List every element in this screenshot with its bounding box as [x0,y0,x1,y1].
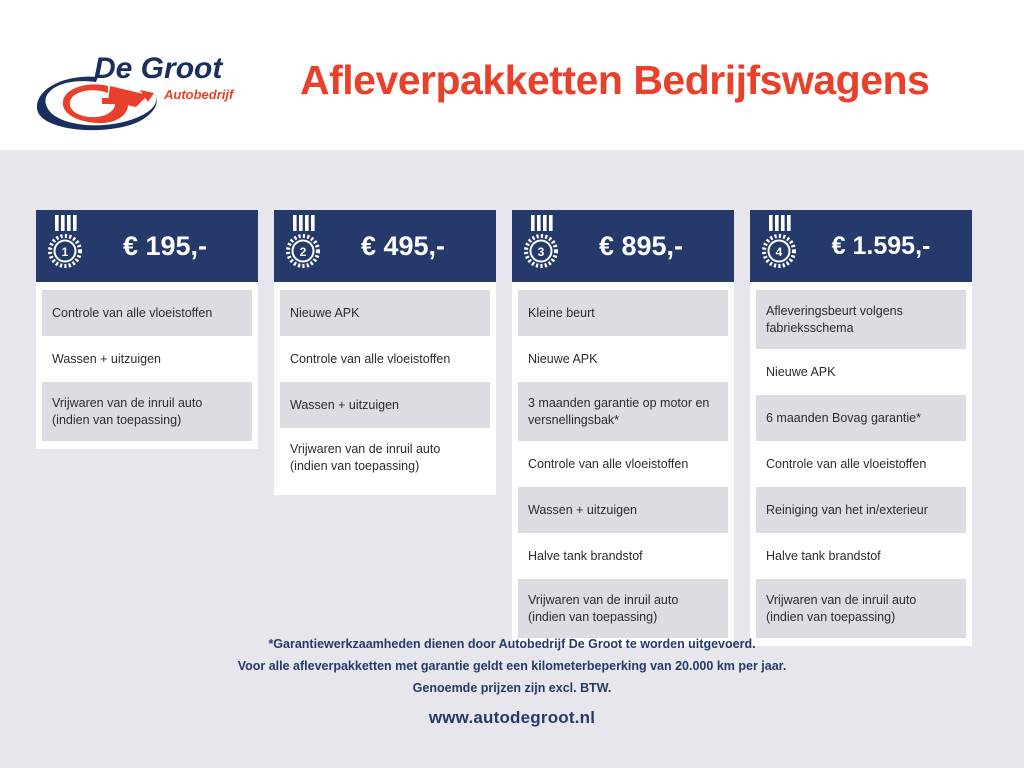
medal-number-4: 4 [776,245,783,259]
package-header-3: 3 € 895,- [512,210,734,282]
feature-item: Wassen + uitzuigen [518,487,728,533]
package-header-2: 2 € 495,- [274,210,496,282]
feature-item: Nieuwe APK [280,290,490,336]
feature-item: Nieuwe APK [756,349,966,395]
feature-list-3: Kleine beurt Nieuwe APK 3 maanden garant… [512,282,734,640]
feature-item: Halve tank brandstof [518,533,728,579]
feature-item: Wassen + uitzuigen [42,336,252,382]
medal-badge-1-icon: 1 [44,215,86,273]
package-card-3[interactable]: 3 € 895,- Kleine beurt Nieuwe APK 3 maan… [512,210,734,646]
feature-item: Reiniging van het in/exterieur [756,487,966,533]
feature-item: Nieuwe APK [518,336,728,382]
footnote-line-2: Voor alle afleverpakketten met garantie … [0,656,1024,678]
logo-brand-text: De Groot [94,52,224,85]
package-price-1: € 195,- [86,231,248,262]
package-cards-row: 1 € 195,- Controle van alle vloeistoffen… [36,210,988,646]
package-card-1[interactable]: 1 € 195,- Controle van alle vloeistoffen… [36,210,258,449]
footnote-line-1: *Garantiewerkzaamheden dienen door Autob… [0,634,1024,656]
feature-item: Halve tank brandstof [756,533,966,579]
feature-item: Controle van alle vloeistoffen [518,441,728,487]
package-card-4[interactable]: 4 € 1.595,- Afleveringsbeurt volgens fab… [750,210,972,646]
package-price-4: € 1.595,- [800,232,962,261]
feature-item: Controle van alle vloeistoffen [756,441,966,487]
feature-list-1: Controle van alle vloeistoffen Wassen + … [36,282,258,443]
medal-badge-2-icon: 2 [282,215,324,273]
feature-list-4: Afleveringsbeurt volgens fabrieksschema … [750,282,972,640]
feature-item: Kleine beurt [518,290,728,336]
feature-item: Vrijwaren van de inruil auto (indien van… [756,579,966,638]
de-groot-swoosh-logo-icon: De Groot Autobedrijf [36,46,251,134]
feature-item: Wassen + uitzuigen [280,382,490,428]
footnote-line-3: Genoemde prijzen zijn excl. BTW. [0,678,1024,700]
feature-item: Vrijwaren van de inruil auto (indien van… [518,579,728,638]
medal-badge-3-icon: 3 [520,215,562,273]
medal-number-3: 3 [538,245,545,259]
page-title: Afleverpakketten Bedrijfswagens [300,58,980,103]
footnote-block: *Garantiewerkzaamheden dienen door Autob… [0,634,1024,699]
feature-item: Vrijwaren van de inruil auto (indien van… [280,428,490,487]
medal-number-2: 2 [300,245,307,259]
feature-item: 6 maanden Bovag garantie* [756,395,966,441]
feature-item: Afleveringsbeurt volgens fabrieksschema [756,290,966,349]
logo-tagline-text: Autobedrijf [163,87,235,102]
feature-item: Vrijwaren van de inruil auto (indien van… [42,382,252,441]
feature-item: Controle van alle vloeistoffen [42,290,252,336]
package-header-1: 1 € 195,- [36,210,258,282]
website-link[interactable]: www.autodegroot.nl [0,708,1024,728]
feature-list-2: Nieuwe APK Controle van alle vloeistoffe… [274,282,496,489]
package-price-3: € 895,- [562,231,724,262]
feature-item: 3 maanden garantie op motor en versnelli… [518,382,728,441]
package-card-2[interactable]: 2 € 495,- Nieuwe APK Controle van alle v… [274,210,496,495]
medal-badge-4-icon: 4 [758,215,800,273]
feature-item: Controle van alle vloeistoffen [280,336,490,382]
medal-number-1: 1 [62,245,69,259]
package-header-4: 4 € 1.595,- [750,210,972,282]
package-price-2: € 495,- [324,231,486,262]
company-logo[interactable]: De Groot Autobedrijf [36,46,251,134]
